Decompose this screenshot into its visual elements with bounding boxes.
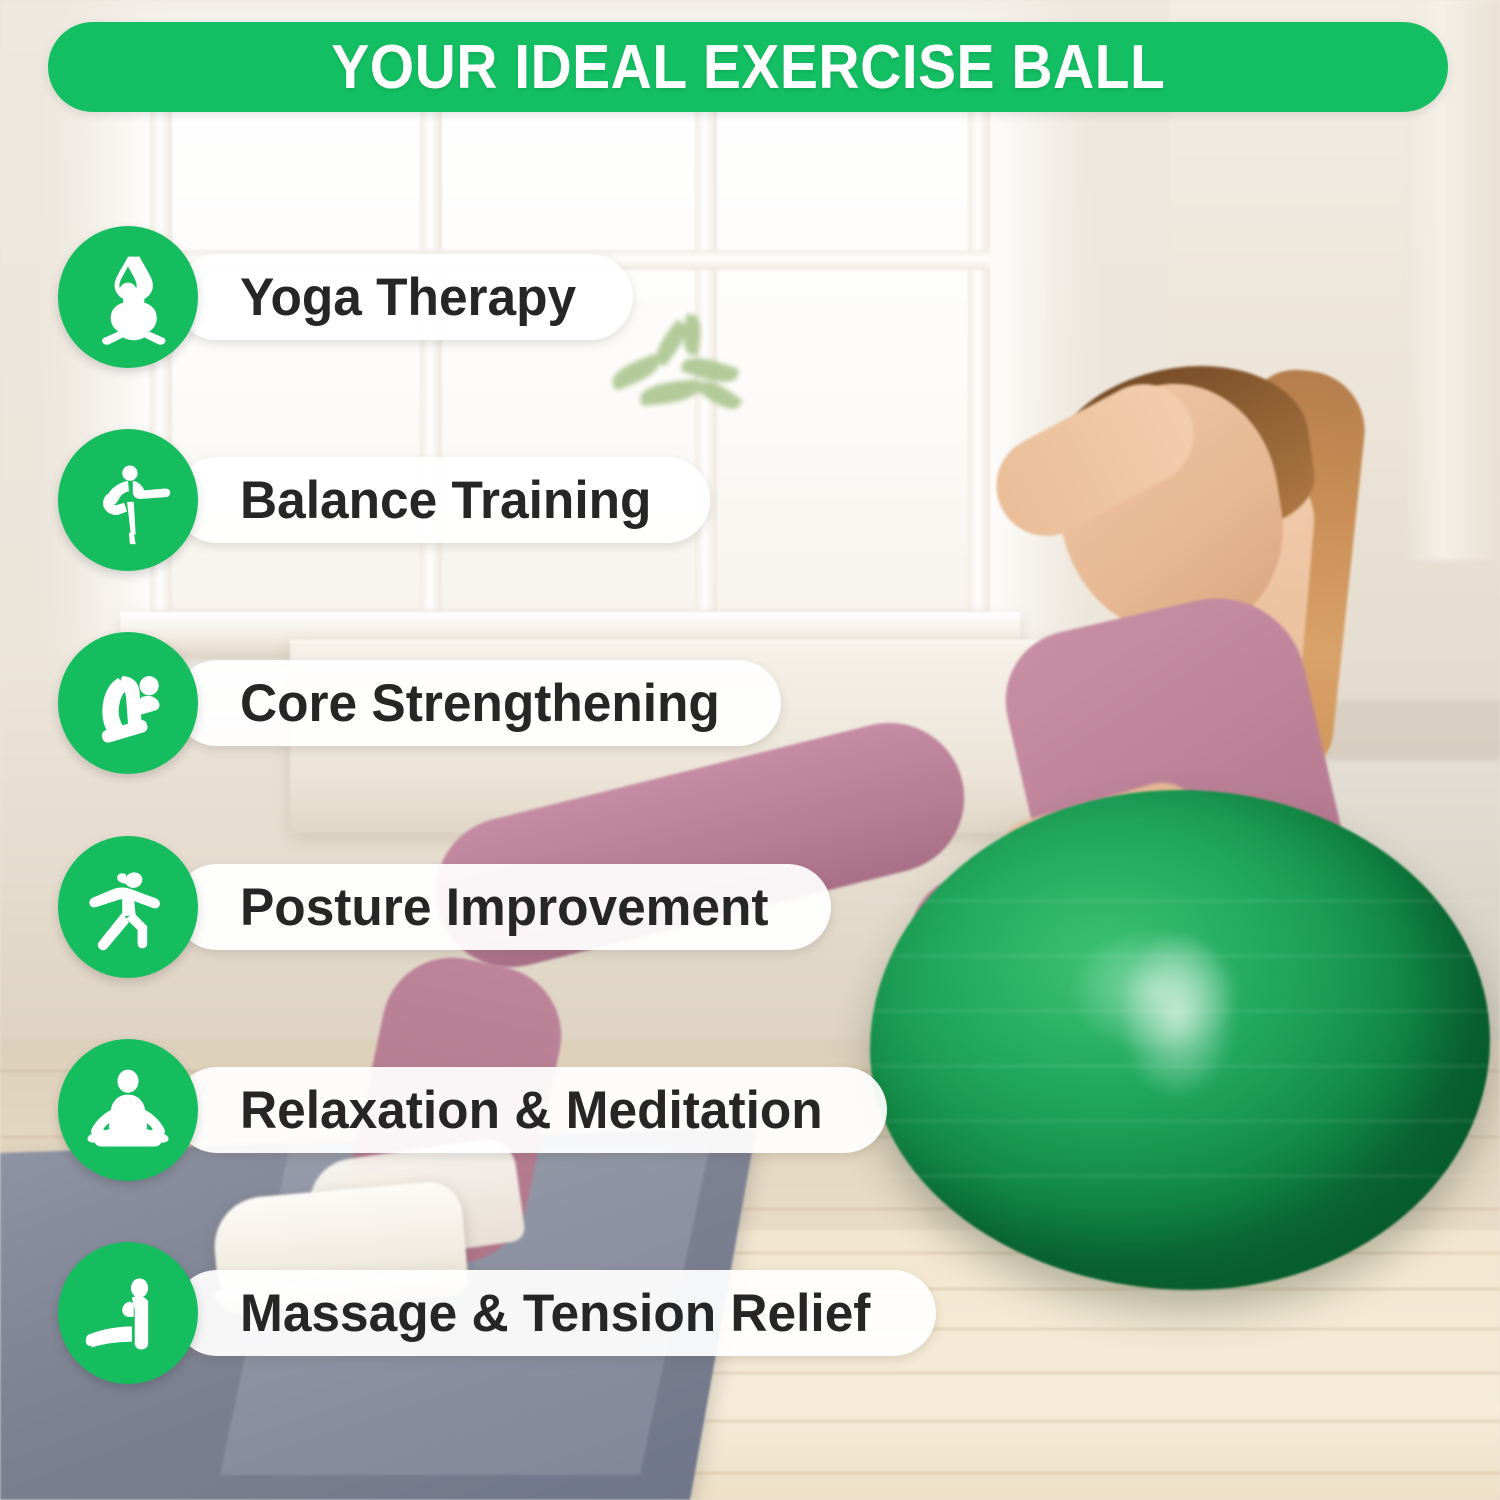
product-infographic: YOUR IDEAL EXERCISE BALL Yoga Therapy [0, 0, 1500, 1500]
feature-pill: Yoga Therapy [174, 254, 633, 340]
feature-label: Yoga Therapy [240, 271, 576, 324]
feature-pill: Relaxation & Meditation [174, 1067, 887, 1153]
seated-core-crunch-icon [58, 632, 198, 774]
feature-row[interactable]: Core Strengthening [58, 628, 781, 778]
feature-label: Massage & Tension Relief [240, 1287, 870, 1340]
feature-pill: Massage & Tension Relief [174, 1270, 936, 1356]
feature-row[interactable]: Posture Improvement [58, 832, 831, 982]
massage-therapy-icon [58, 1242, 198, 1384]
seated-meditation-lotus-icon [58, 1039, 198, 1181]
feature-pill: Balance Training [174, 457, 710, 543]
feature-label: Core Strengthening [240, 677, 720, 730]
page-title: YOUR IDEAL EXERCISE BALL [331, 32, 1165, 103]
feature-pill: Posture Improvement [174, 864, 831, 950]
yoga-lotus-arms-up-icon [58, 226, 198, 368]
feature-label: Posture Improvement [240, 881, 769, 934]
feature-label: Balance Training [240, 474, 651, 527]
feature-row[interactable]: Balance Training [58, 425, 710, 575]
green-exercise-ball [870, 790, 1490, 1290]
feature-pill: Core Strengthening [174, 660, 781, 746]
feature-row[interactable]: Yoga Therapy [58, 222, 633, 372]
feature-row[interactable]: Massage & Tension Relief [58, 1238, 936, 1388]
warrior-stretch-pose-icon [58, 836, 198, 978]
ball-highlight [1118, 930, 1238, 1100]
header-banner: YOUR IDEAL EXERCISE BALL [48, 22, 1448, 112]
feature-label: Relaxation & Meditation [240, 1084, 823, 1137]
standing-balance-pose-icon [58, 429, 198, 571]
feature-row[interactable]: Relaxation & Meditation [58, 1035, 887, 1185]
